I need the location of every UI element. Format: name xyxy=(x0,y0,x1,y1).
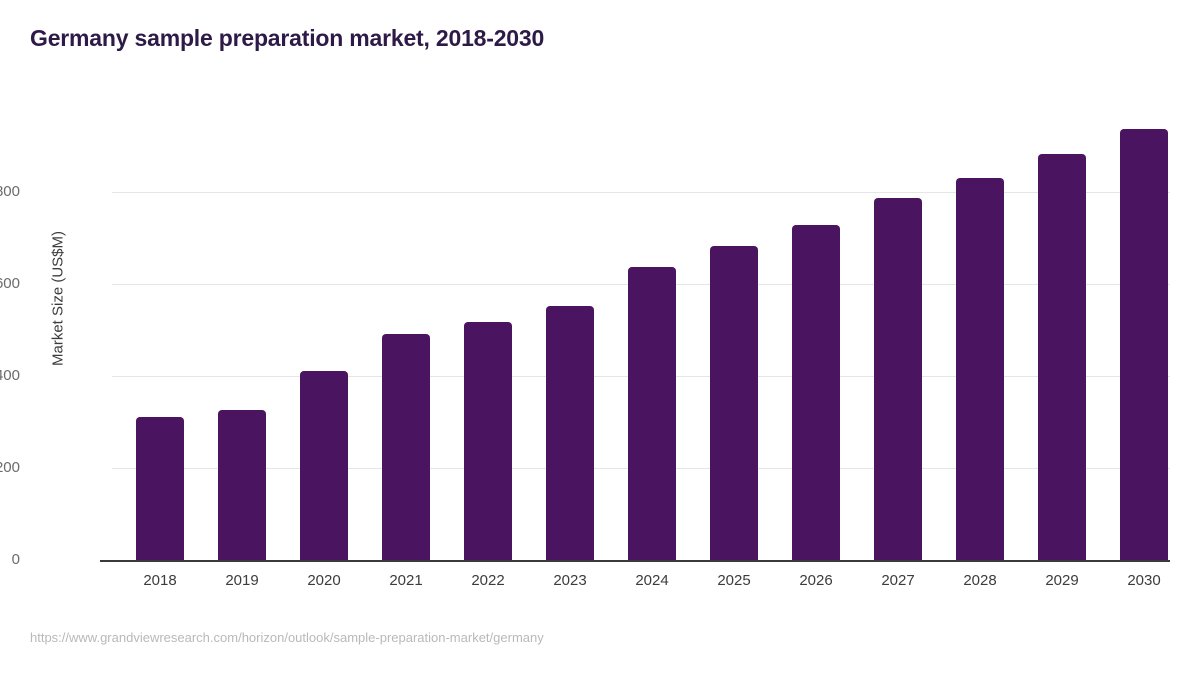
y-axis-tick-label: 600 xyxy=(0,275,20,292)
bar-slot xyxy=(694,100,774,560)
bar-2021[interactable] xyxy=(382,334,430,560)
chart-page: Germany sample preparation market, 2018-… xyxy=(0,0,1200,675)
bar-slot xyxy=(448,100,528,560)
chart-container: Market Size (US$M) 0200400600800 2018201… xyxy=(0,0,1200,675)
source-url: https://www.grandviewresearch.com/horizo… xyxy=(30,630,544,645)
x-axis-tick-label: 2023 xyxy=(530,572,610,589)
bar-2029[interactable] xyxy=(1038,154,1086,560)
x-axis-tick-label: 2024 xyxy=(612,572,692,589)
bar-slot xyxy=(776,100,856,560)
bar-2027[interactable] xyxy=(874,198,922,560)
x-axis-tick-label: 2018 xyxy=(120,572,200,589)
y-axis-title: Market Size (US$M) xyxy=(50,179,67,419)
bar-slot xyxy=(1022,100,1102,560)
x-axis-tick-label: 2020 xyxy=(284,572,364,589)
bar-slot xyxy=(1104,100,1184,560)
bar-2019[interactable] xyxy=(218,410,266,560)
y-axis-tick-label: 200 xyxy=(0,459,20,476)
bar-slot xyxy=(202,100,282,560)
x-axis-tick-label: 2026 xyxy=(776,572,856,589)
y-axis-tick-label: 0 xyxy=(0,551,20,568)
bar-2020[interactable] xyxy=(300,371,348,560)
bar-slot xyxy=(120,100,200,560)
x-axis-tick-label: 2021 xyxy=(366,572,446,589)
x-axis-tick-label: 2028 xyxy=(940,572,1020,589)
bar-2028[interactable] xyxy=(956,178,1004,560)
bar-series xyxy=(130,100,1170,560)
y-axis-tick-label: 800 xyxy=(0,183,20,200)
bar-slot xyxy=(284,100,364,560)
bar-2022[interactable] xyxy=(464,322,512,560)
x-axis-tick-label: 2027 xyxy=(858,572,938,589)
x-axis-line xyxy=(100,560,1170,562)
bar-slot xyxy=(366,100,446,560)
x-axis-tick-label: 2019 xyxy=(202,572,282,589)
x-axis-tick-label: 2030 xyxy=(1104,572,1184,589)
x-axis-tick-label: 2029 xyxy=(1022,572,1102,589)
bar-slot xyxy=(530,100,610,560)
bar-2026[interactable] xyxy=(792,225,840,560)
x-axis-tick-label: 2025 xyxy=(694,572,774,589)
bar-2030[interactable] xyxy=(1120,129,1168,560)
bar-slot xyxy=(612,100,692,560)
bar-2018[interactable] xyxy=(136,417,184,560)
y-axis-tick-label: 400 xyxy=(0,367,20,384)
x-axis-tick-label: 2022 xyxy=(448,572,528,589)
bar-slot xyxy=(940,100,1020,560)
bar-slot xyxy=(858,100,938,560)
bar-2023[interactable] xyxy=(546,306,594,560)
bar-2024[interactable] xyxy=(628,267,676,560)
bar-2025[interactable] xyxy=(710,246,758,560)
plot-area: 0200400600800 20182019202020212022202320… xyxy=(130,100,1170,560)
